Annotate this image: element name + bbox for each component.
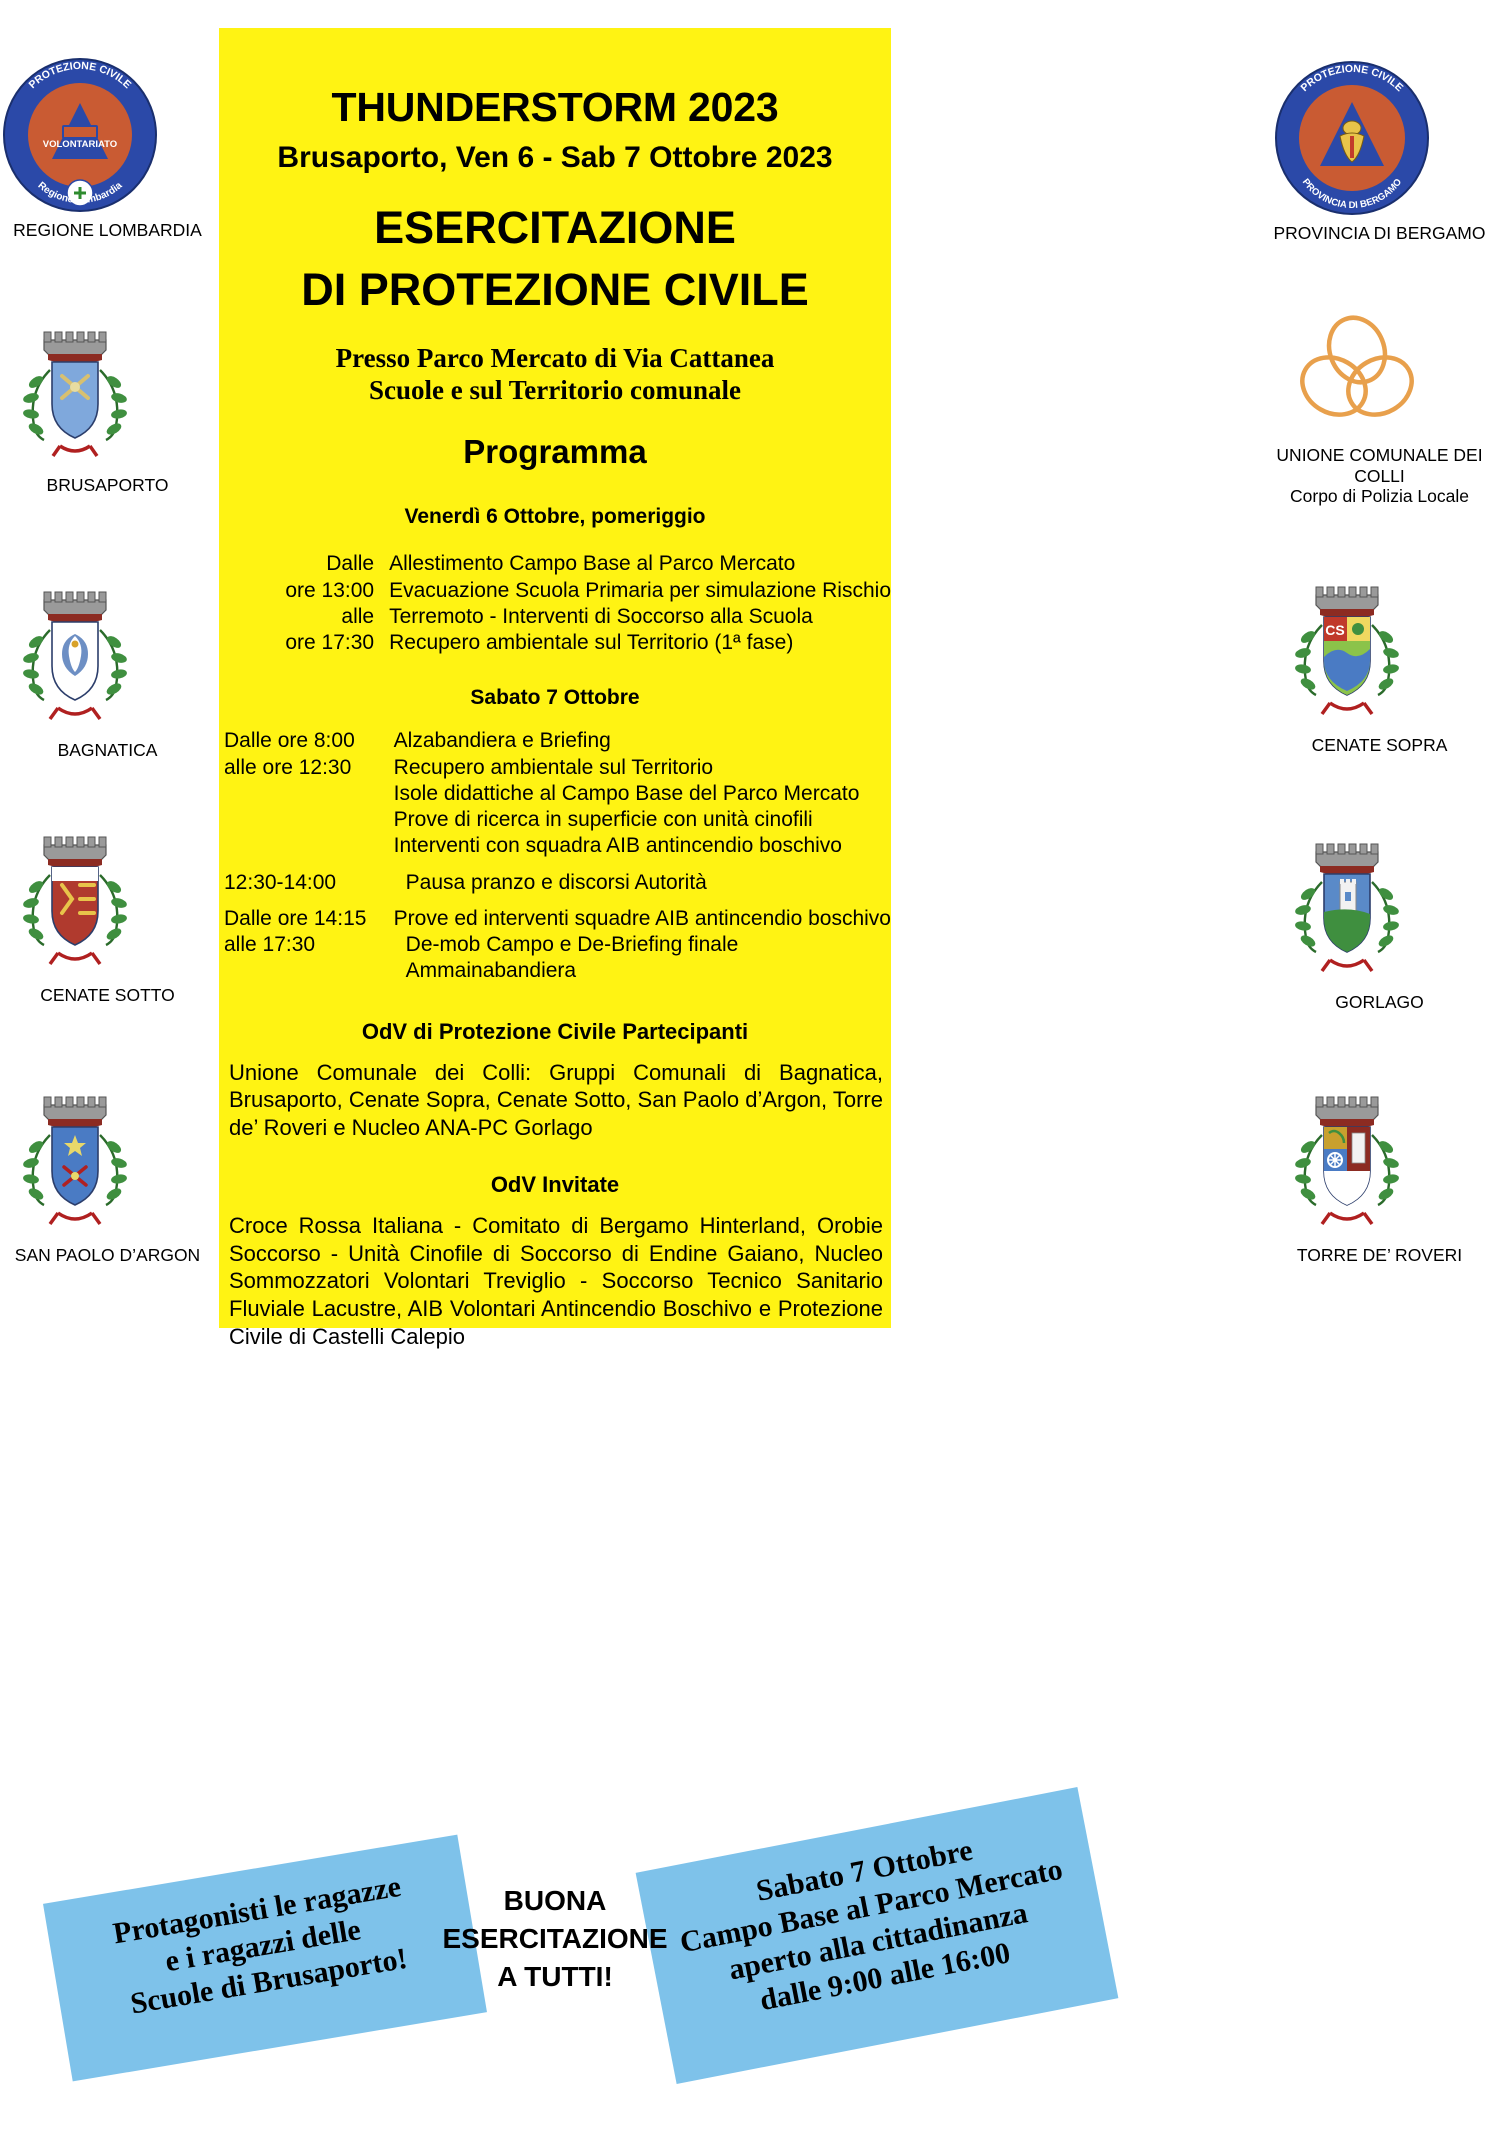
schedule-desc: De-mob Campo e De-Briefing finale: [394, 932, 891, 958]
schedule-row: Dalle Allestimento Campo Base al Parco M…: [229, 551, 891, 577]
schedule-desc: Recupero ambientale sul Territorio (1ª f…: [389, 630, 891, 656]
schedule-time: Dalle ore 14:15: [224, 906, 394, 932]
poster-main-panel: THUNDERSTORM 2023 Brusaporto, Ven 6 - Sa…: [219, 28, 891, 1328]
greeting-line-2: ESERCITAZIONE: [440, 1920, 670, 1958]
programma-heading: Programma: [219, 433, 891, 471]
logo-cell-bagnatica: BAGNATICA: [0, 570, 215, 761]
odv-invited-body: Croce Rossa Italiana - Comitato di Berga…: [219, 1212, 891, 1351]
cenate-sotto-crest: [0, 815, 215, 980]
schedule-row: ore 13:00 Evacuazione Scuola Primaria pe…: [229, 578, 891, 604]
schedule-time: Dalle ore 8:00: [224, 728, 394, 754]
poster-headline-line1: ESERCITAZIONE: [219, 202, 891, 254]
brusaporto-crest: [0, 310, 215, 470]
greeting-line-1: BUONA: [440, 1882, 670, 1920]
schedule-row: Prove di ricerca in superficie con unità…: [224, 807, 891, 833]
schedule-row: 12:30-14:00 Pausa pranzo e discorsi Auto…: [224, 870, 891, 896]
schedule-time: ore 13:00: [229, 578, 389, 604]
schedule-time: ore 17:30: [229, 630, 389, 656]
bagnatica-crest: [0, 570, 215, 735]
schedule-row: Isole didattiche al Campo Base del Parco…: [224, 781, 891, 807]
cenate-sopra-crest: CS: [1272, 565, 1487, 730]
schedule-desc: Evacuazione Scuola Primaria per simulazi…: [389, 578, 891, 604]
schedule-time: 12:30-14:00: [224, 870, 394, 896]
gorlago-crest: [1272, 822, 1487, 987]
schedule-desc: Terremoto - Interventi di Soccorso alla …: [389, 604, 891, 630]
schedule-desc: Recupero ambientale sul Territorio: [394, 755, 891, 781]
san-paolo-argon-crest: [0, 1075, 215, 1240]
schedule-row: ore 17:30 Recupero ambientale sul Territ…: [229, 630, 891, 656]
logo-cell-regione-lombardia: PROTEZIONE CIVILE VOLONTARIATO Regione L…: [0, 55, 215, 241]
logo-caption: SAN PAOLO D’ARGON: [0, 1245, 215, 1266]
schedule-desc: Ammainabandiera: [394, 958, 891, 984]
logo-cell-unione-comunale-colli: UNIONE COMUNALE DEI COLLI Corpo di Poliz…: [1272, 310, 1487, 507]
logo-caption: CENATE SOPRA: [1272, 735, 1487, 756]
odv-participants-heading: OdV di Protezione Civile Partecipanti: [219, 1019, 891, 1045]
schedule-time: alle: [229, 604, 389, 630]
poster-location: Presso Parco Mercato di Via Cattanea Scu…: [219, 342, 891, 408]
provincia-bergamo-crest: PROTEZIONE CIVILE PROVINCIA DI BERGAMO: [1272, 58, 1487, 218]
schedule-desc: Prove ed interventi squadre AIB antincen…: [394, 906, 891, 932]
logo-cell-cenate-sotto: CENATE SOTTO: [0, 815, 215, 1006]
location-line-1: Presso Parco Mercato di Via Cattanea: [219, 342, 891, 375]
schedule-desc: Prove di ricerca in superficie con unità…: [394, 807, 891, 833]
schedule-row: Interventi con squadra AIB antincendio b…: [224, 833, 891, 859]
schedule-row: Ammainabandiera: [224, 958, 891, 984]
greeting-line-3: A TUTTI!: [440, 1958, 670, 1996]
schedule-desc: Allestimento Campo Base al Parco Mercato: [389, 551, 891, 577]
schedule-desc: Pausa pranzo e discorsi Autorità: [394, 870, 891, 896]
banner-schools-text: Protagonisti le ragazze e i ragazzi dell…: [43, 1835, 479, 2035]
schedule-time: alle ore 12:30: [224, 755, 394, 781]
logo-cell-gorlago: GORLAGO: [1272, 822, 1487, 1013]
svg-text:CS: CS: [1325, 622, 1344, 638]
location-line-2: Scuole e sul Territorio comunale: [219, 374, 891, 407]
logo-cell-torre-de-roveri: TORRE DE’ ROVERI: [1272, 1075, 1487, 1266]
logo-cell-provincia-bergamo: PROTEZIONE CIVILE PROVINCIA DI BERGAMO P…: [1272, 58, 1487, 244]
schedule-time: [224, 833, 394, 859]
logo-cell-san-paolo-argon: SAN PAOLO D’ARGON: [0, 1075, 215, 1266]
schedule-time: Dalle: [229, 551, 389, 577]
schedule-desc: Alzabandiera e Briefing: [394, 728, 891, 754]
poster-title: THUNDERSTORM 2023: [219, 86, 891, 129]
logo-caption: GORLAGO: [1272, 992, 1487, 1013]
friday-heading: Venerdì 6 Ottobre, pomeriggio: [219, 505, 891, 529]
banner-open-day-text: Sabato 7 Ottobre Campo Base al Parco Mer…: [636, 1787, 1110, 2038]
schedule-time: [224, 807, 394, 833]
logo-caption: PROVINCIA DI BERGAMO: [1272, 223, 1487, 244]
schedule-row: Dalle ore 8:00 Alzabandiera e Briefing: [224, 728, 891, 754]
schedule-gap: [224, 896, 891, 906]
saturday-schedule: Dalle ore 8:00 Alzabandiera e Briefing a…: [219, 728, 891, 984]
logo-caption: CENATE SOTTO: [0, 985, 215, 1006]
odv-participants-body: Unione Comunale dei Colli: Gruppi Comuna…: [219, 1059, 891, 1142]
schedule-row: alle Terremoto - Interventi di Soccorso …: [229, 604, 891, 630]
schedule-time: [224, 958, 394, 984]
logo-caption: UNIONE COMUNALE DEI COLLI: [1272, 445, 1487, 486]
schedule-time: alle 17:30: [224, 932, 394, 958]
logo-caption: REGIONE LOMBARDIA: [0, 220, 215, 241]
schedule-row: alle ore 12:30 Recupero ambientale sul T…: [224, 755, 891, 781]
svg-text:VOLONTARIATO: VOLONTARIATO: [43, 139, 117, 150]
schedule-desc: Interventi con squadra AIB antincendio b…: [394, 833, 891, 859]
logo-caption: BAGNATICA: [0, 740, 215, 761]
logo-caption: BRUSAPORTO: [0, 475, 215, 496]
unione-colli-rings-icon: [1272, 310, 1487, 440]
torre-de-roveri-crest: [1272, 1075, 1487, 1240]
poster-headline-line2: DI PROTEZIONE CIVILE: [219, 264, 891, 316]
logo-cell-brusaporto: BRUSAPORTO: [0, 310, 215, 496]
regione-lombardia-crest: PROTEZIONE CIVILE VOLONTARIATO Regione L…: [0, 55, 215, 215]
logo-cell-cenate-sopra: CS CENATE SOPRA: [1272, 565, 1487, 756]
schedule-row: Dalle ore 14:15 Prove ed interventi squa…: [224, 906, 891, 932]
schedule-time: [224, 781, 394, 807]
banner-schools: Protagonisti le ragazze e i ragazzi dell…: [43, 1835, 487, 2082]
odv-invited-heading: OdV Invitate: [219, 1172, 891, 1198]
logo-caption-extra: Corpo di Polizia Locale: [1272, 486, 1487, 507]
schedule-gap: [224, 860, 891, 870]
saturday-heading: Sabato 7 Ottobre: [219, 686, 891, 710]
poster-date-line: Brusaporto, Ven 6 - Sab 7 Ottobre 2023: [219, 141, 891, 174]
schedule-desc: Isole didattiche al Campo Base del Parco…: [394, 781, 891, 807]
schedule-row: alle 17:30 De-mob Campo e De-Briefing fi…: [224, 932, 891, 958]
banner-open-day: Sabato 7 Ottobre Campo Base al Parco Mer…: [636, 1787, 1119, 2084]
logo-caption: TORRE DE’ ROVERI: [1272, 1245, 1487, 1266]
friday-schedule: Dalle Allestimento Campo Base al Parco M…: [219, 551, 891, 656]
banner-greeting: BUONA ESERCITAZIONE A TUTTI!: [440, 1882, 670, 1995]
